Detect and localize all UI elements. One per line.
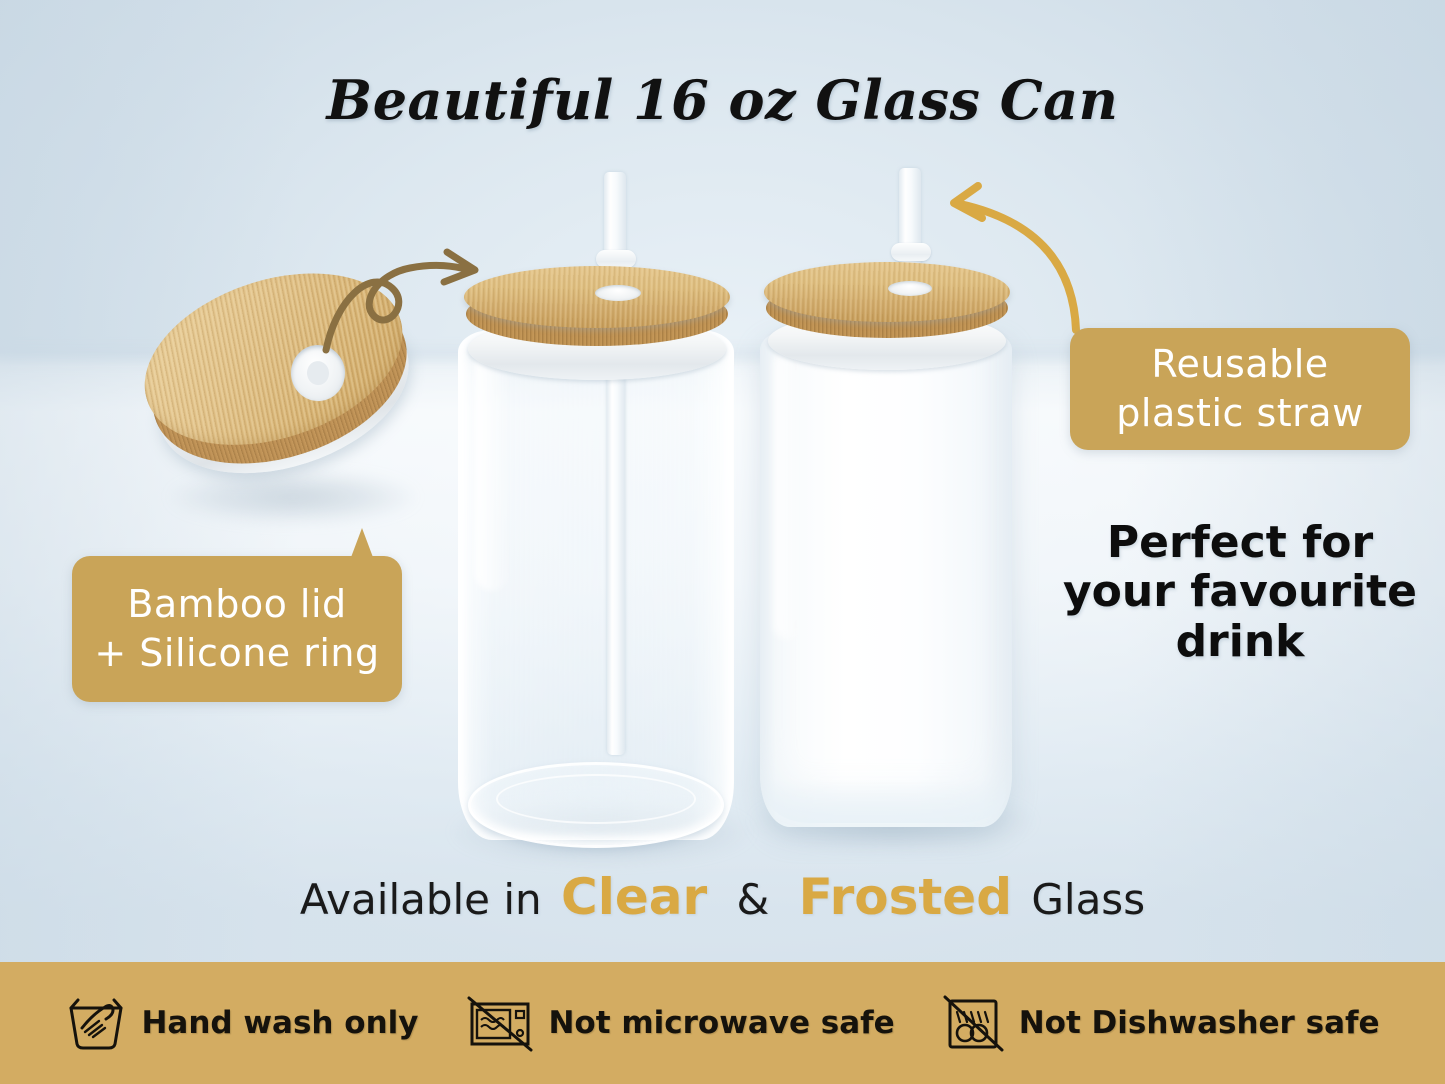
no-dishwasher-icon	[943, 994, 1005, 1052]
availability-conjunction: &	[727, 875, 780, 924]
callout-reusable-straw: Reusable plastic straw	[1070, 328, 1410, 450]
callout-bamboo-tail	[350, 528, 374, 560]
tagline-line2: your favourite	[1063, 566, 1417, 617]
clear-can-bamboo-lid	[464, 266, 730, 328]
care-label-no-dishwasher: Not Dishwasher safe	[1019, 1005, 1380, 1041]
frosted-glass-can	[760, 330, 1012, 827]
availability-line: Available in Clear & Frosted Glass	[0, 868, 1445, 926]
availability-prefix: Available in	[300, 875, 542, 924]
availability-option-clear: Clear	[555, 868, 713, 926]
tagline: Perfect for your favourite drink	[1056, 518, 1424, 666]
frosted-can-body	[760, 330, 1012, 827]
callout-bamboo-line1: Bamboo lid	[94, 580, 379, 629]
curved-arrow-icon	[938, 182, 1088, 334]
no-microwave-icon	[466, 994, 534, 1052]
tagline-line3: drink	[1176, 616, 1305, 667]
hand-wash-icon	[65, 994, 127, 1052]
care-item-no-microwave: Not microwave safe	[466, 994, 894, 1052]
care-label-hand-wash: Hand wash only	[141, 1005, 418, 1041]
tagline-line1: Perfect for	[1107, 517, 1373, 568]
care-item-no-dishwasher: Not Dishwasher safe	[943, 994, 1380, 1052]
availability-option-frosted: Frosted	[793, 868, 1018, 926]
care-instructions-bar: Hand wash only Not microwave safe	[0, 962, 1445, 1084]
clear-can-base-inner-rim	[496, 774, 696, 824]
frosted-can-lid-hole	[888, 281, 932, 296]
product-infographic: Beautiful 16 oz Glass Can	[0, 0, 1445, 1084]
clear-can-lid-hole	[595, 285, 641, 301]
callout-bamboo-line2: + Silicone ring	[94, 629, 379, 678]
callout-straw-text: Reusable plastic straw	[1116, 340, 1363, 437]
callout-bamboo-text: Bamboo lid + Silicone ring	[94, 580, 379, 677]
page-title: Beautiful 16 oz Glass Can	[0, 68, 1445, 132]
callout-straw-line2: plastic straw	[1116, 389, 1363, 438]
callout-straw-line1: Reusable	[1116, 340, 1363, 389]
availability-suffix: Glass	[1031, 875, 1145, 924]
care-item-hand-wash: Hand wash only	[65, 994, 418, 1052]
clear-glass-can	[458, 330, 734, 840]
frosted-can-straw-collar	[891, 243, 931, 261]
care-label-no-microwave: Not microwave safe	[548, 1005, 894, 1041]
callout-bamboo-lid: Bamboo lid + Silicone ring	[72, 556, 402, 702]
